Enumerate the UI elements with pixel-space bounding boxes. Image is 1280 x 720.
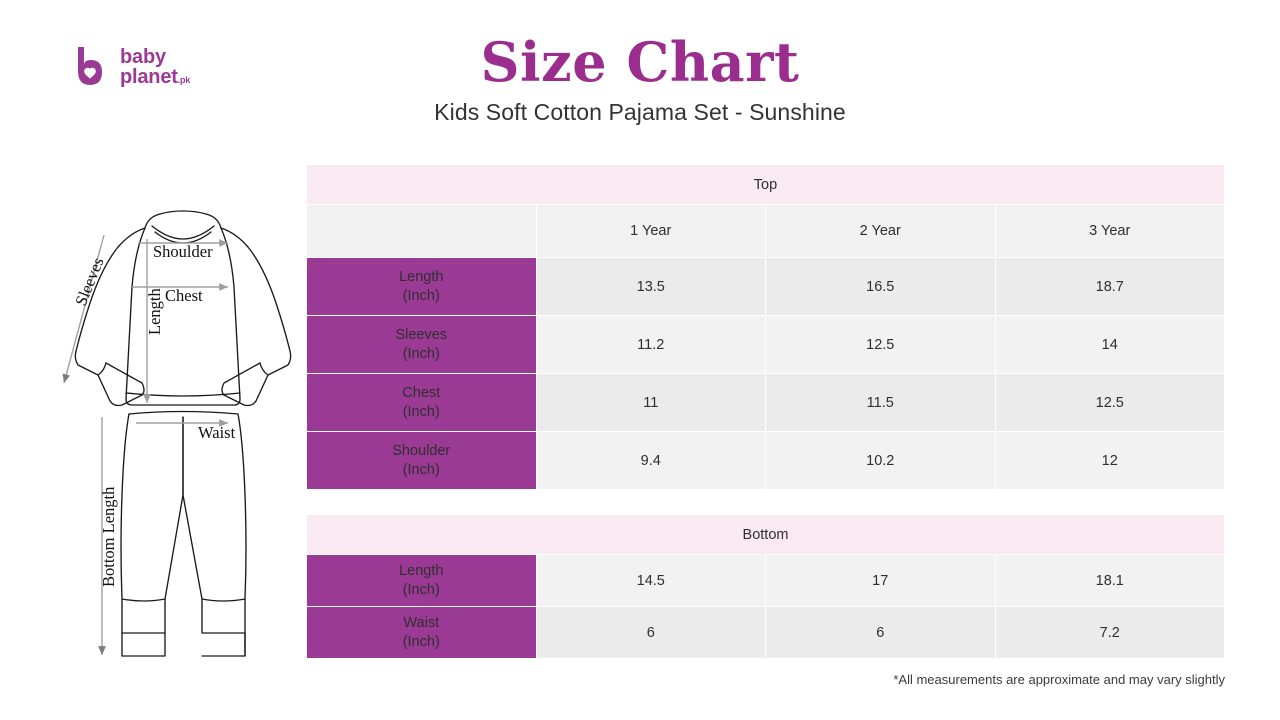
row-label-text: Length bbox=[399, 269, 443, 285]
illustration-label-waist: Waist bbox=[198, 423, 236, 442]
row-label-unit: (Inch) bbox=[307, 403, 536, 422]
row-label-text: Shoulder bbox=[392, 443, 450, 459]
size-table-top: Top 1 Year 2 Year 3 Year Length (Inch) 1… bbox=[306, 164, 1225, 490]
cell-bottom-length-3-year: 18.1 bbox=[996, 555, 1225, 606]
illustration-label-length: Length bbox=[145, 288, 164, 335]
cell-sleeves-1-year: 11.2 bbox=[537, 316, 766, 373]
illustration-label-shoulder: Shoulder bbox=[153, 242, 213, 261]
cell-shoulder-1-year: 9.4 bbox=[537, 432, 766, 489]
column-header-3-year: 3 Year bbox=[996, 205, 1225, 257]
row-label-unit: (Inch) bbox=[307, 461, 536, 480]
column-header-1-year: 1 Year bbox=[537, 205, 766, 257]
cell-sleeves-2-year: 12.5 bbox=[766, 316, 995, 373]
cell-bottom-waist-1-year: 6 bbox=[537, 607, 766, 658]
measurements-disclaimer: *All measurements are approximate and ma… bbox=[893, 672, 1225, 687]
row-label-chest: Chest (Inch) bbox=[307, 374, 536, 431]
garment-measurement-illustration: Shoulder Chest Length Sleeves Waist Bott… bbox=[52, 195, 314, 665]
illustration-label-bottom-length: Bottom Length bbox=[99, 486, 118, 587]
row-label-unit: (Inch) bbox=[307, 287, 536, 306]
cell-bottom-length-2-year: 17 bbox=[766, 555, 995, 606]
row-label-unit: (Inch) bbox=[307, 581, 536, 600]
row-label-text: Waist bbox=[403, 615, 439, 631]
row-label-sleeves: Sleeves (Inch) bbox=[307, 316, 536, 373]
table-band-row: Top bbox=[307, 165, 1224, 204]
illustration-label-chest: Chest bbox=[165, 286, 203, 305]
table-band-label-top: Top bbox=[307, 165, 1224, 204]
page-title: Size Chart bbox=[0, 33, 1280, 91]
row-label-text: Length bbox=[399, 563, 443, 579]
size-table-bottom: Bottom Length (Inch) 14.5 17 18.1 Waist … bbox=[306, 514, 1225, 659]
cell-sleeves-3-year: 14 bbox=[996, 316, 1225, 373]
row-label-shoulder: Shoulder (Inch) bbox=[307, 432, 536, 489]
cell-length-2-year: 16.5 bbox=[766, 258, 995, 315]
cell-chest-3-year: 12.5 bbox=[996, 374, 1225, 431]
cell-bottom-length-1-year: 14.5 bbox=[537, 555, 766, 606]
header-corner-cell bbox=[307, 205, 536, 257]
table-row: Chest (Inch) 11 11.5 12.5 bbox=[307, 374, 1224, 431]
page-subtitle: Kids Soft Cotton Pajama Set - Sunshine bbox=[0, 97, 1280, 127]
cell-length-3-year: 18.7 bbox=[996, 258, 1225, 315]
row-label-text: Sleeves bbox=[395, 327, 447, 343]
cell-shoulder-2-year: 10.2 bbox=[766, 432, 995, 489]
cell-bottom-waist-3-year: 7.2 bbox=[996, 607, 1225, 658]
column-header-2-year: 2 Year bbox=[766, 205, 995, 257]
table-row: Length (Inch) 13.5 16.5 18.7 bbox=[307, 258, 1224, 315]
table-row: Length (Inch) 14.5 17 18.1 bbox=[307, 555, 1224, 606]
illustration-label-sleeves: Sleeves bbox=[71, 255, 107, 309]
table-row: Shoulder (Inch) 9.4 10.2 12 bbox=[307, 432, 1224, 489]
table-band-label-bottom: Bottom bbox=[307, 515, 1224, 554]
table-band-row: Bottom bbox=[307, 515, 1224, 554]
cell-shoulder-3-year: 12 bbox=[996, 432, 1225, 489]
table-row: Waist (Inch) 6 6 7.2 bbox=[307, 607, 1224, 658]
row-label-bottom-length: Length (Inch) bbox=[307, 555, 536, 606]
row-label-unit: (Inch) bbox=[307, 345, 536, 364]
cell-chest-1-year: 11 bbox=[537, 374, 766, 431]
table-row: Sleeves (Inch) 11.2 12.5 14 bbox=[307, 316, 1224, 373]
table-header-row: 1 Year 2 Year 3 Year bbox=[307, 205, 1224, 257]
row-label-bottom-waist: Waist (Inch) bbox=[307, 607, 536, 658]
row-label-text: Chest bbox=[402, 385, 440, 401]
cell-chest-2-year: 11.5 bbox=[766, 374, 995, 431]
row-label-length: Length (Inch) bbox=[307, 258, 536, 315]
row-label-unit: (Inch) bbox=[307, 633, 536, 652]
cell-bottom-waist-2-year: 6 bbox=[766, 607, 995, 658]
cell-length-1-year: 13.5 bbox=[537, 258, 766, 315]
